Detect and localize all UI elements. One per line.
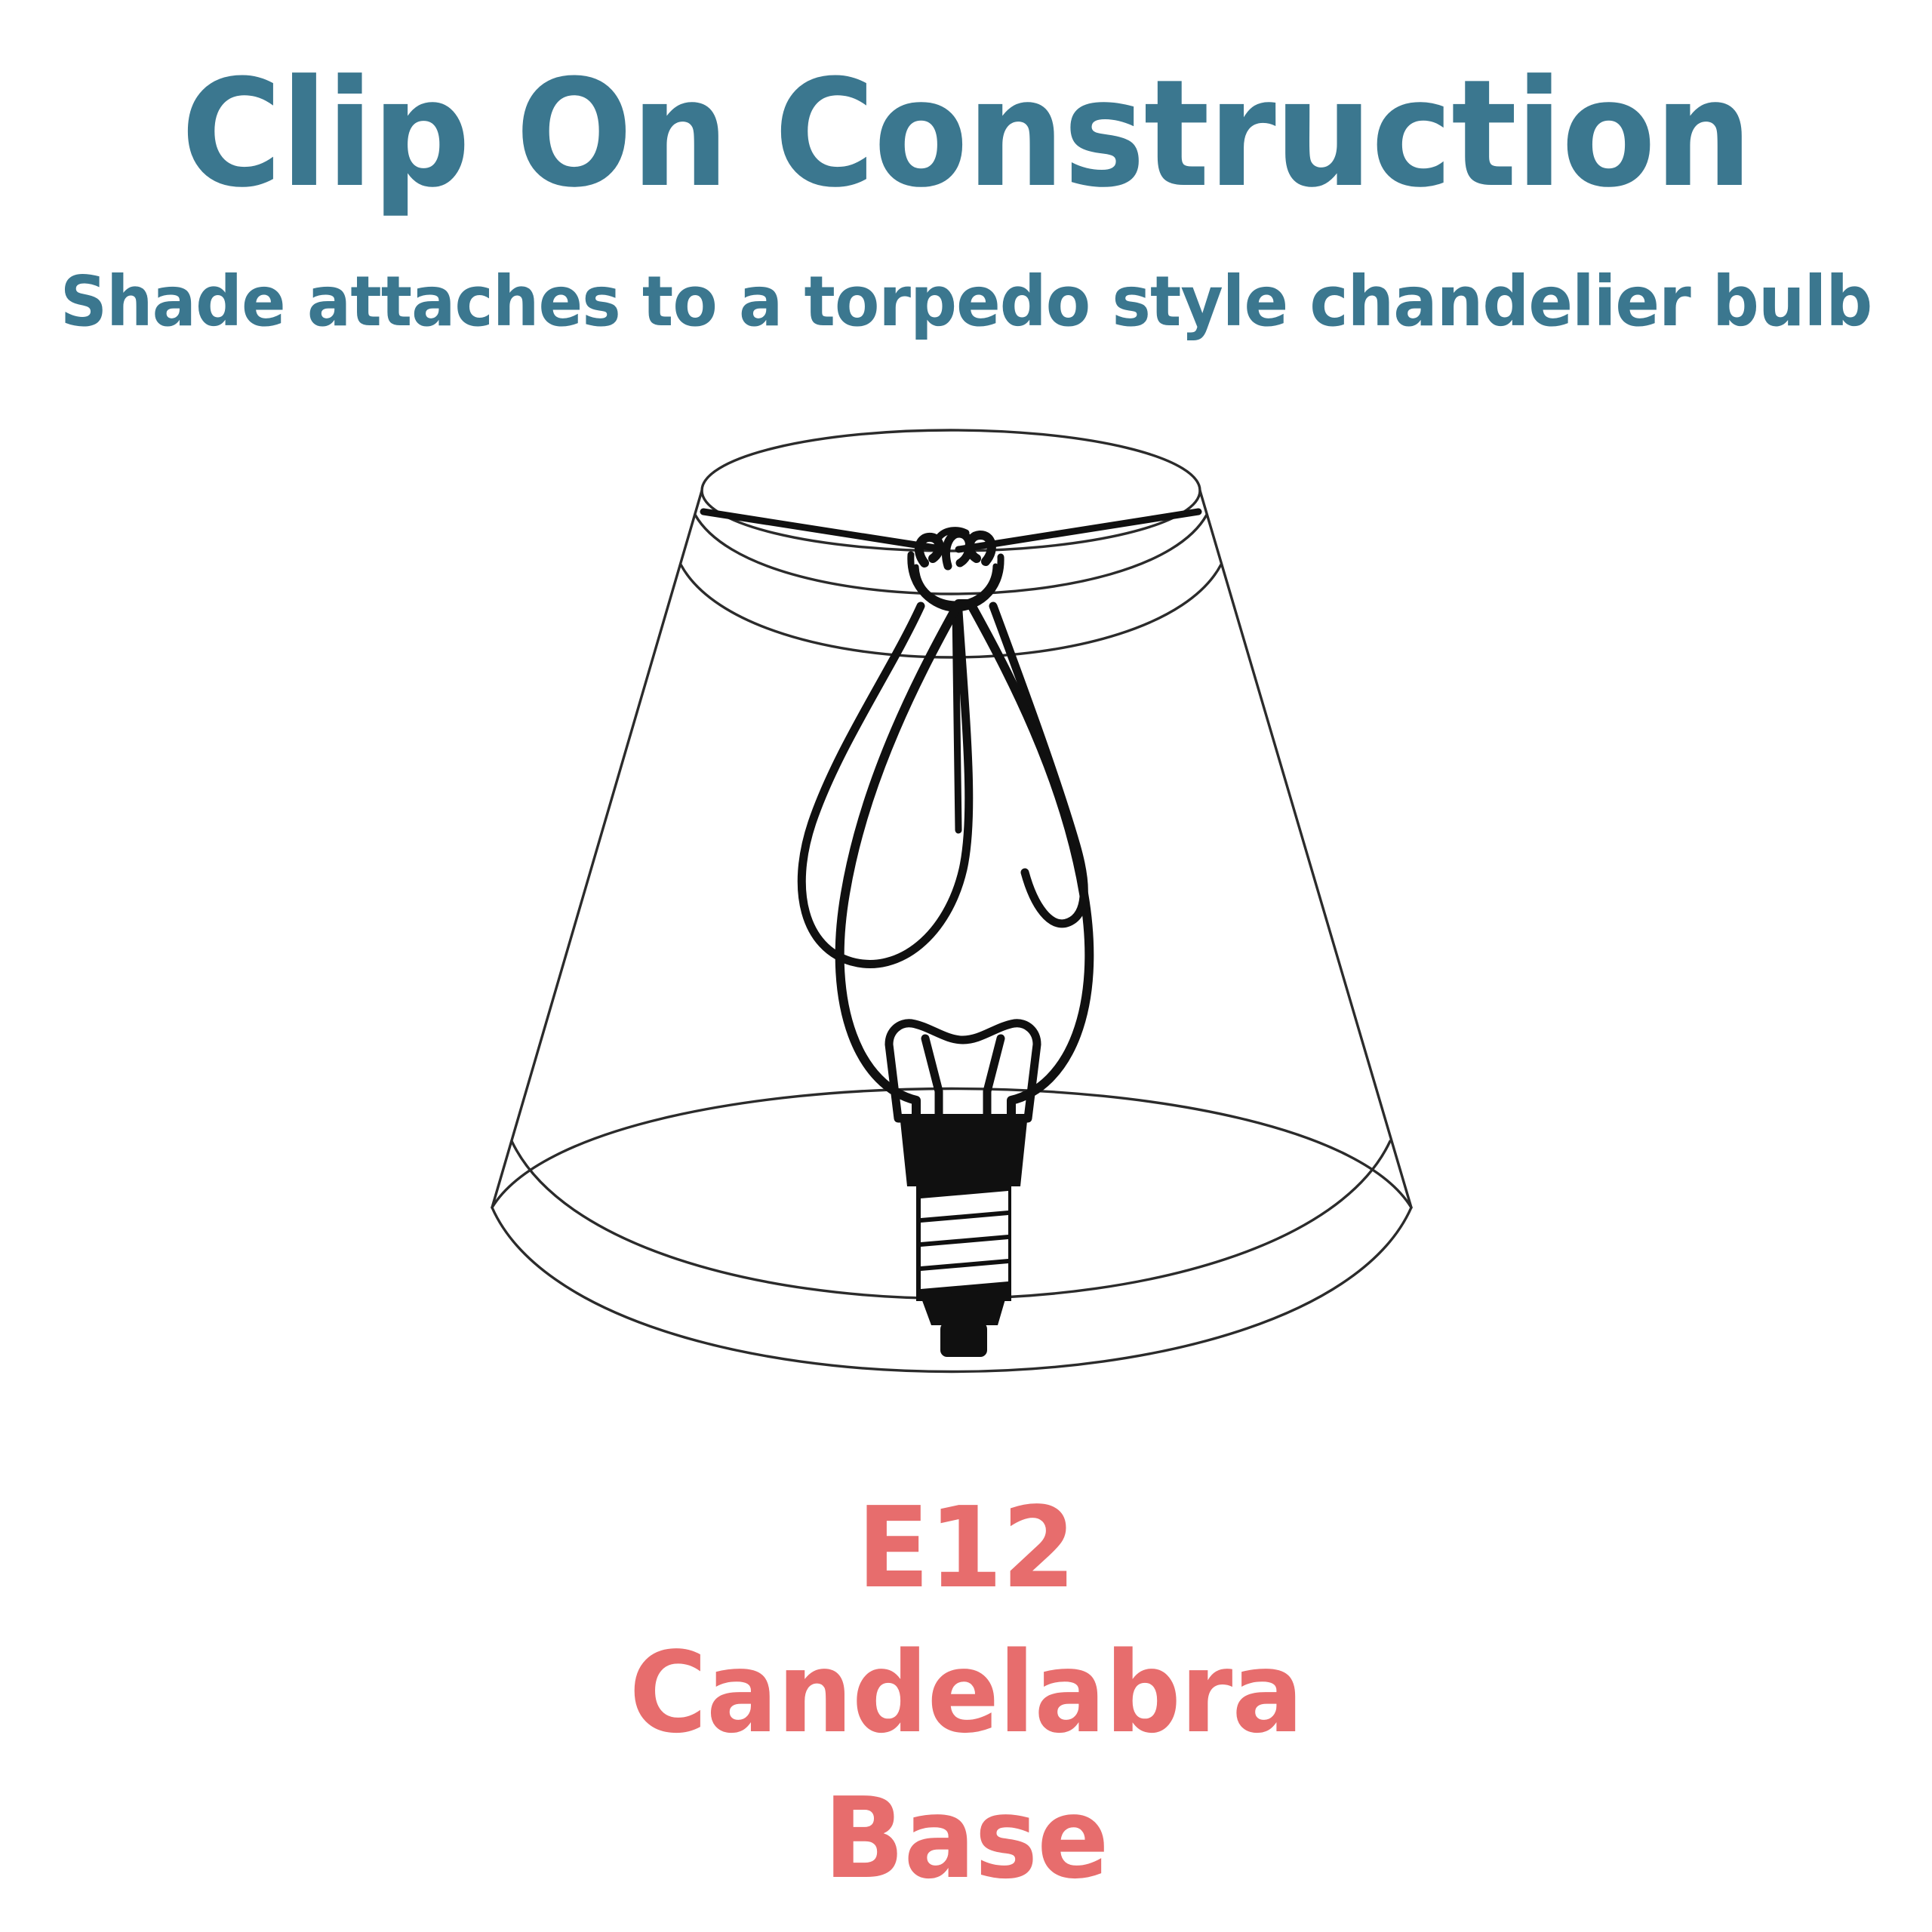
footer-block: E12 Candelabra Base	[0, 1475, 1932, 1911]
poster-canvas: Clip On Construction Shade attaches to a…	[0, 0, 1932, 1932]
illustration-block	[0, 423, 1932, 1449]
clip-arm-left	[801, 606, 969, 964]
shade-left-side	[492, 491, 702, 1207]
filament-inner-stem	[925, 1038, 939, 1118]
shade-right-side	[1200, 491, 1411, 1207]
clip-center-spine	[955, 608, 958, 830]
e12-candelabra-base-group	[900, 1114, 1028, 1357]
filament-inner-stem-right	[987, 1038, 1001, 1118]
footer-line-candelabra: Candelabra	[48, 1620, 1884, 1765]
footer-line-base: Base	[48, 1766, 1884, 1911]
page-title: Clip On Construction	[68, 60, 1865, 208]
shade-upper-band-arc-1	[695, 515, 1207, 594]
clip-arm-right	[993, 606, 1084, 924]
header-block: Clip On Construction Shade attaches to a…	[0, 60, 1932, 337]
page-subtitle: Shade attaches to a torpedo style chande…	[58, 208, 1874, 337]
base-collar	[900, 1114, 1028, 1186]
base-contact-tip	[940, 1322, 987, 1357]
clip-on-lamp-shade-diagram-icon	[438, 423, 1494, 1449]
bulb-clip-ring-group	[911, 531, 1001, 608]
footer-line-e12: E12	[48, 1475, 1884, 1620]
